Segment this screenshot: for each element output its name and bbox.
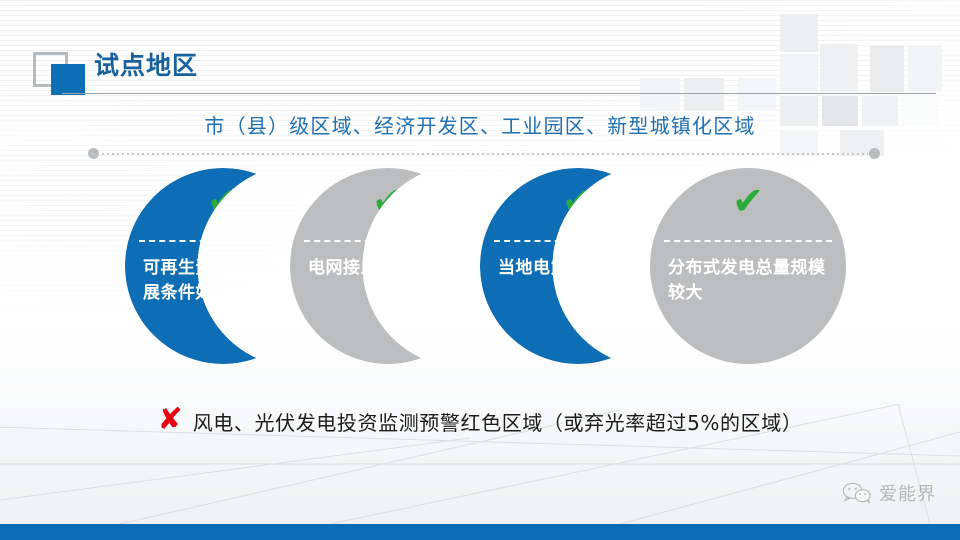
slide-header: 试点地区	[0, 22, 960, 82]
connector-line	[92, 153, 868, 155]
bottom-accent-bar	[0, 524, 960, 540]
watermark-text: 爱能界	[879, 480, 936, 506]
criteria-label: 分布式发电总量规模较大	[668, 256, 836, 305]
circle-dashed-divider	[304, 240, 472, 242]
criteria-circle[interactable]: ✔ 当地电力需求量较大	[480, 168, 676, 364]
criteria-circle-row: ✔ 可再生资源和场址发展条件好 ✔ 电网接入条件好 ✔ 当地电力需求量较大 ✔ …	[0, 168, 960, 364]
connector-dot-right	[869, 148, 880, 159]
title-divider	[62, 93, 936, 94]
exclusion-warning-text: 风电、光伏发电投资监测预警红色区域（或弃光率超过5%的区域）	[193, 407, 803, 436]
check-icon: ✔	[125, 182, 321, 220]
page-title: 试点地区	[94, 53, 198, 78]
cross-icon: ✘	[158, 405, 183, 435]
subtitle: 市（县）级区域、经济开发区、工业园区、新型城镇化区域	[0, 110, 960, 139]
criteria-label: 电网接入条件好	[308, 256, 476, 281]
watermark: 爱能界	[842, 480, 936, 506]
title-filled-square-icon	[51, 64, 85, 95]
slide-canvas: 试点地区 市（县）级区域、经济开发区、工业园区、新型城镇化区域 ✔ 可再生资源和…	[0, 0, 960, 540]
criteria-circle[interactable]: ✔ 可再生资源和场址发展条件好	[125, 168, 321, 364]
criteria-label: 当地电力需求量较大	[498, 256, 666, 281]
circle-dashed-divider	[139, 240, 307, 242]
check-icon: ✔	[650, 182, 846, 220]
exclusion-warning: ✘ 风电、光伏发电投资监测预警红色区域（或弃光率超过5%的区域）	[0, 406, 960, 436]
circle-dashed-divider	[664, 240, 832, 242]
check-icon: ✔	[480, 182, 676, 220]
circle-dashed-divider	[494, 240, 662, 242]
criteria-label: 可再生资源和场址发展条件好	[143, 256, 311, 305]
wechat-icon	[842, 482, 872, 504]
criteria-circle[interactable]: ✔ 分布式发电总量规模较大	[650, 168, 846, 364]
